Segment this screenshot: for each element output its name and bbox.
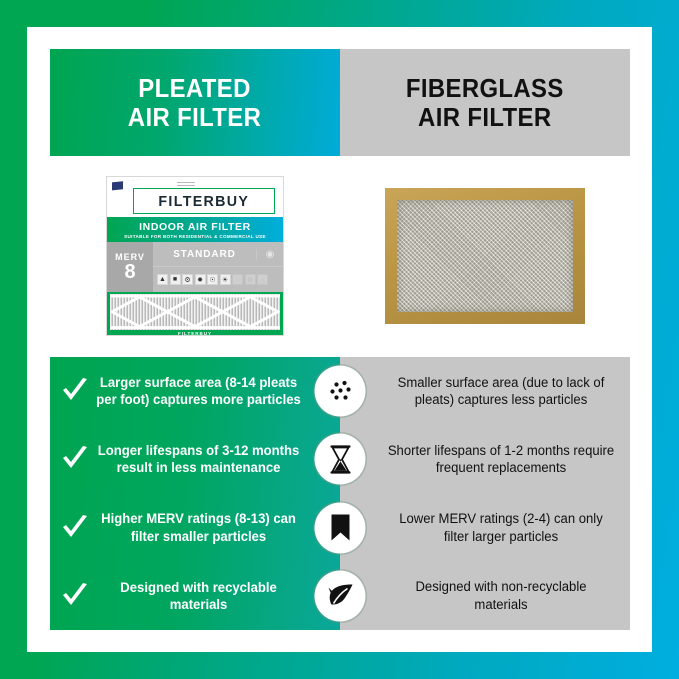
comparison-rows: Larger surface area (8-14 pleats per foo…: [50, 357, 630, 630]
comparison-row: Designed with recyclable materials Desig…: [50, 562, 630, 630]
row-right-text: Designed with non-recyclable materials: [388, 578, 615, 613]
header-pleated-title: PLEATED AIR FILTER: [128, 74, 261, 130]
header-fiberglass-line1: FIBERGLASS: [406, 74, 564, 102]
header-fiberglass-line2: AIR FILTER: [406, 103, 564, 131]
row-right-text: Shorter lifespans of 1-2 months require …: [388, 442, 615, 477]
package-top: FILTERBUY: [107, 177, 283, 217]
checkmark-icon: [58, 583, 92, 609]
allergen-icon: △: [257, 274, 268, 285]
pleat-support-pattern-icon: [110, 294, 280, 330]
package-merv-value: 8: [124, 262, 135, 282]
package-feature-icon-row: ▲ ■ ⚙ ✹ ☉ ☀ ○ ☸ △: [153, 267, 283, 292]
package-pleat-graphic: FILTERBUY: [107, 292, 283, 336]
row-right-cell: Designed with non-recyclable materials: [340, 578, 630, 613]
header-row: PLEATED AIR FILTER FIBERGLASS AIR FILTER: [50, 49, 630, 156]
virus-icon: ○: [232, 274, 243, 285]
mold-icon: ⚙: [182, 274, 193, 285]
header-fiberglass-title: FIBERGLASS AIR FILTER: [406, 74, 564, 130]
checkmark-icon: [58, 378, 92, 404]
comparison-row: Longer lifespans of 3-12 months result i…: [50, 425, 630, 493]
row-right-text: Smaller surface area (due to lack of ple…: [388, 374, 615, 409]
pleated-filter-package: FILTERBUY INDOOR AIR FILTER SUITABLE FOR…: [106, 176, 284, 336]
package-banner-line2: SUITABLE FOR BOTH RESIDENTIAL & COMMERCI…: [124, 234, 266, 239]
hourglass-icon: [315, 434, 366, 485]
row-left-cell: Larger surface area (8-14 pleats per foo…: [50, 374, 340, 409]
header-pleated-line1: PLEATED: [128, 74, 261, 102]
row-right-cell: Lower MERV ratings (2-4) can only filter…: [340, 510, 630, 545]
row-left-cell: Designed with recyclable materials: [50, 579, 340, 614]
odor-icon: ☸: [245, 274, 256, 285]
leaf-icon: [315, 570, 366, 621]
package-banner: INDOOR AIR FILTER SUITABLE FOR BOTH RESI…: [107, 217, 283, 242]
package-merv-block: MERV 8: [107, 242, 153, 292]
row-left-cell: Longer lifespans of 3-12 months result i…: [50, 442, 340, 477]
row-left-text: Longer lifespans of 3-12 months result i…: [96, 442, 337, 477]
comparison-row: Larger surface area (8-14 pleats per foo…: [50, 357, 630, 425]
row-left-cell: Higher MERV ratings (8-13) can filter sm…: [50, 510, 340, 545]
package-grade-row: STANDARD ◉: [153, 242, 283, 267]
certification-seal-icon: ◉: [256, 249, 283, 260]
fiberglass-mesh: [397, 200, 573, 312]
package-banner-line1: INDOOR AIR FILTER: [139, 221, 251, 233]
pollen-icon: ■: [170, 274, 181, 285]
pet-dander-icon: ✹: [195, 274, 206, 285]
package-footer-brand: FILTERBUY: [107, 331, 283, 336]
white-card: PLEATED AIR FILTER FIBERGLASS AIR FILTER: [27, 27, 652, 652]
package-brand-name: FILTERBUY: [159, 193, 250, 210]
row-left-text: Higher MERV ratings (8-13) can filter sm…: [96, 510, 337, 545]
row-right-text: Lower MERV ratings (2-4) can only filter…: [388, 510, 615, 545]
header-fiberglass: FIBERGLASS AIR FILTER: [340, 49, 630, 156]
comparison-infographic: PLEATED AIR FILTER FIBERGLASS AIR FILTER: [0, 0, 679, 679]
comparison-row: Higher MERV ratings (8-13) can filter sm…: [50, 494, 630, 562]
fiberglass-filter-photo: [385, 188, 585, 324]
row-left-text: Larger surface area (8-14 pleats per foo…: [96, 374, 337, 409]
particles-icon: [315, 366, 366, 417]
dust-icon: ▲: [157, 274, 168, 285]
package-brand-bar: FILTERBUY: [133, 188, 275, 214]
pleat-media: [110, 294, 280, 330]
bacteria-icon: ☉: [207, 274, 218, 285]
row-left-text: Designed with recyclable materials: [96, 579, 337, 614]
comparison-section: Larger surface area (8-14 pleats per foo…: [50, 357, 630, 630]
row-right-cell: Smaller surface area (due to lack of ple…: [340, 374, 630, 409]
bookmark-icon: [315, 502, 366, 553]
header-pleated-line2: AIR FILTER: [128, 103, 261, 131]
product-images-row: FILTERBUY INDOOR AIR FILTER SUITABLE FOR…: [50, 160, 630, 352]
package-grade-label: STANDARD: [153, 249, 256, 260]
fiberglass-image-cell: [340, 160, 630, 352]
checkmark-icon: [58, 515, 92, 541]
row-right-cell: Shorter lifespans of 1-2 months require …: [340, 442, 630, 477]
pleated-image-cell: FILTERBUY INDOOR AIR FILTER SUITABLE FOR…: [50, 160, 340, 352]
header-pleated: PLEATED AIR FILTER: [50, 49, 340, 156]
package-spec-band: MERV 8 STANDARD ◉ ▲ ■ ⚙: [107, 242, 283, 292]
checkmark-icon: [58, 446, 92, 472]
package-spec-right: STANDARD ◉ ▲ ■ ⚙ ✹ ☉ ☀ ○ ☸: [153, 242, 283, 292]
smoke-icon: ☀: [220, 274, 231, 285]
